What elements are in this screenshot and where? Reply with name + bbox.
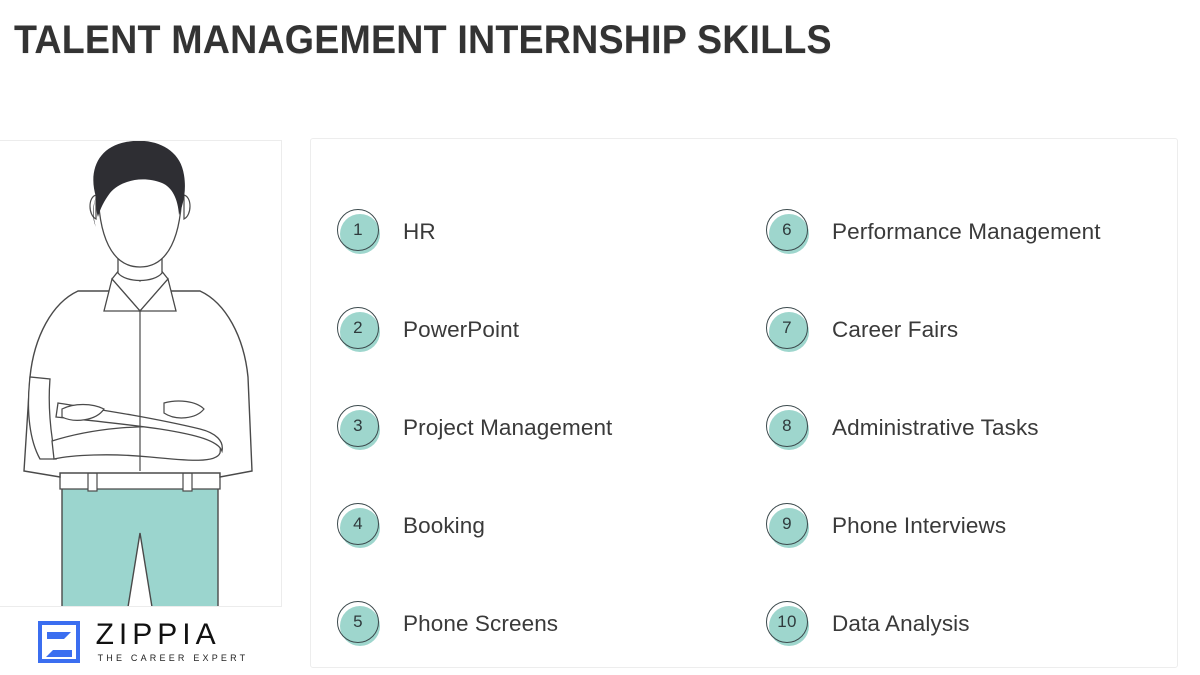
skill-item: 1 HR	[337, 183, 757, 281]
skill-number-badge: 10	[766, 601, 812, 647]
skill-number-badge: 9	[766, 503, 812, 549]
skill-item: 4 Booking	[337, 477, 757, 575]
skill-label: HR	[403, 219, 436, 245]
skills-column-right: 6 Performance Management 7 Career Fairs …	[766, 183, 1166, 673]
skill-number-badge: 2	[337, 307, 383, 353]
skill-number: 9	[766, 503, 808, 545]
skill-number: 8	[766, 405, 808, 447]
skill-item: 9 Phone Interviews	[766, 477, 1166, 575]
skill-number: 2	[337, 307, 379, 349]
person-arms-crossed-illustration	[0, 141, 280, 607]
skill-item: 10 Data Analysis	[766, 575, 1166, 673]
skill-label: Career Fairs	[832, 317, 958, 343]
skill-number: 3	[337, 405, 379, 447]
zippia-text-lockup: ZIPPIA THE CAREER EXPERT	[96, 620, 249, 663]
skill-number-badge: 7	[766, 307, 812, 353]
skill-item: 3 Project Management	[337, 379, 757, 477]
skill-label: Booking	[403, 513, 485, 539]
skill-number: 1	[337, 209, 379, 251]
skill-label: Phone Interviews	[832, 513, 1006, 539]
skill-label: Project Management	[403, 415, 612, 441]
skill-label: Administrative Tasks	[832, 415, 1039, 441]
illustration-card	[0, 140, 282, 607]
skill-number: 4	[337, 503, 379, 545]
skill-number-badge: 6	[766, 209, 812, 255]
zippia-tagline: THE CAREER EXPERT	[98, 654, 249, 663]
skill-item: 2 PowerPoint	[337, 281, 757, 379]
zippia-logo: ZIPPIA THE CAREER EXPERT	[0, 608, 282, 675]
skill-number: 6	[766, 209, 808, 251]
skill-label: Phone Screens	[403, 611, 558, 637]
skill-number-badge: 3	[337, 405, 383, 451]
skill-number-badge: 4	[337, 503, 383, 549]
skill-item: 5 Phone Screens	[337, 575, 757, 673]
skill-item: 8 Administrative Tasks	[766, 379, 1166, 477]
skill-number: 10	[766, 601, 808, 643]
skill-label: PowerPoint	[403, 317, 519, 343]
skill-item: 7 Career Fairs	[766, 281, 1166, 379]
zippia-z-mark-icon	[34, 617, 84, 667]
skills-card: 1 HR 2 PowerPoint 3 Project Management	[310, 138, 1178, 668]
skill-item: 6 Performance Management	[766, 183, 1166, 281]
skill-label: Data Analysis	[832, 611, 970, 637]
page-title: TALENT MANAGEMENT INTERNSHIP SKILLS	[14, 18, 832, 63]
skill-number: 5	[337, 601, 379, 643]
skill-label: Performance Management	[832, 219, 1101, 245]
skill-number-badge: 8	[766, 405, 812, 451]
zippia-wordmark: ZIPPIA	[96, 620, 221, 650]
skill-number-badge: 1	[337, 209, 383, 255]
skill-number-badge: 5	[337, 601, 383, 647]
skill-number: 7	[766, 307, 808, 349]
skills-column-left: 1 HR 2 PowerPoint 3 Project Management	[337, 183, 757, 673]
